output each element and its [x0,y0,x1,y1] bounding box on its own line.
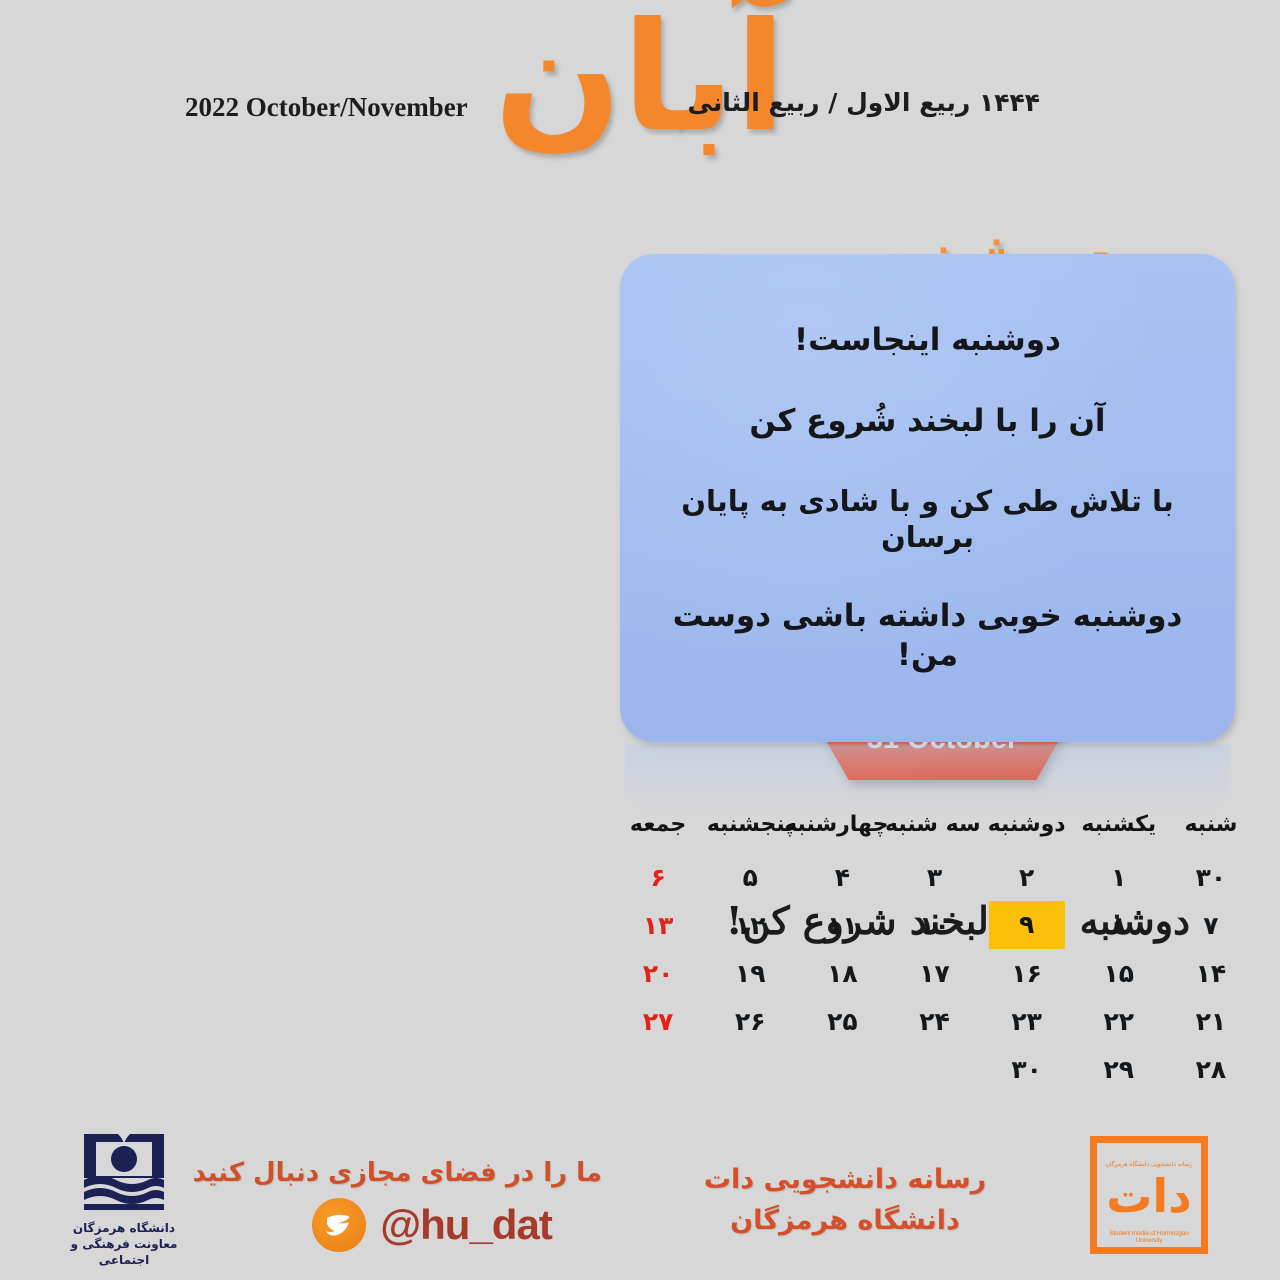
weekday-header-tuesday: سه شنبه [888,808,980,853]
quote-card: دوشنبه اینجاست! آن را با لبخند شُروع کن … [620,254,1235,742]
calendar-day-number: ۷ [1165,911,1257,940]
calendar-day-number: ۱۰ [888,911,980,940]
calendar-day-cell[interactable]: ۳۰ [981,1045,1073,1093]
calendar-day-cell[interactable]: ۱۷ [888,949,980,997]
calendar-day-cell[interactable]: ۲۸ [1165,1045,1257,1093]
calendar-day-number: ۲۶ [704,1007,796,1036]
weekday-header-wednesday: چهارشنبه [796,808,888,853]
calendar-day-number: ۱۱ [796,911,888,940]
calendar-day-cell[interactable]: ۱۱ [796,901,888,949]
gregorian-range-label: 2022 October/November [185,92,468,123]
calendar-day-number: ۲۴ [888,1007,980,1036]
calendar-day-cell[interactable]: ۱ [1073,853,1165,901]
calendar-day-cell [888,1045,980,1093]
calendar-day-number: ۲۱ [1165,1007,1257,1036]
eitaa-icon[interactable] [312,1198,366,1252]
social-follow-block: ما را در فضای مجازی دنبال کنید @hu_dat [262,1158,602,1252]
social-handle-row[interactable]: @hu_dat [262,1198,602,1252]
social-handle-text[interactable]: @hu_dat [380,1201,552,1249]
calendar-day-number: ۲۹ [1073,1055,1165,1084]
calendar-day-number: ۱۶ [981,959,1073,988]
follow-us-text: ما را در فضای مجازی دنبال کنید [262,1158,602,1188]
weekday-header-thursday: پنجشنبه [704,808,796,853]
calendar-day-number: ۲۵ [796,1007,888,1036]
dat-logo-bottom-caption: Student media of Hormozgan University [1097,1230,1201,1244]
calendar-day-cell[interactable]: ۴ [796,853,888,901]
calendar-day-cell-today[interactable]: ۹ [981,901,1073,949]
calendar-week-row: ۱۴۱۵۱۶۱۷۱۸۱۹۲۰ [612,949,1257,997]
university-caption-line-1: دانشگاه هرمزگان [48,1220,200,1236]
hijri-range-label: ۱۴۴۴ ربیع الاول / ربیع الثانی [688,88,1040,117]
calendar-day-number: ۲۲ [1073,1007,1165,1036]
media-name-line-2: دانشگاه هرمزگان [680,1201,1010,1242]
calendar-day-number: ۳۰ [981,1055,1073,1084]
weekday-header-sunday: یکشنبه [1073,808,1165,853]
month-title: آبان [0,0,1280,165]
dat-logo-glyph: دات [1097,1173,1201,1219]
calendar-day-number: ۱۳ [612,911,704,940]
calendar-day-cell[interactable]: ۳ [888,853,980,901]
quote-card-reflection [625,744,1230,814]
calendar-poster: آبان 2022 October/November ۱۴۴۴ ربیع الا… [0,0,1280,1280]
dat-logo-block: رسانه دانشجویی دانشگاه هرمزگان دات Stude… [1084,1136,1208,1260]
quote-line-3: با تلاش طی کن و با شادی به پایان برسان [658,483,1197,556]
calendar-day-cell[interactable]: ۵ [704,853,796,901]
calendar-day-cell[interactable]: ۲۵ [796,997,888,1045]
university-logo-block: دانشگاه هرمزگان معاونت فرهنگی و اجتماعی [48,1128,200,1269]
calendar-day-cell[interactable]: ۲ [981,853,1073,901]
calendar-day-number: ۵ [704,863,796,892]
calendar-day-cell[interactable]: ۱۲ [704,901,796,949]
calendar-day-number: ۲۰ [612,959,704,988]
calendar-day-cell[interactable]: ۱۹ [704,949,796,997]
month-calendar: شنبه یکشنبه دوشنبه سه شنبه چهارشنبه پنجش… [612,808,1257,1093]
calendar-day-number: ۱۵ [1073,959,1165,988]
calendar-day-cell[interactable]: ۱۵ [1073,949,1165,997]
calendar-day-cell[interactable]: ۲۱ [1165,997,1257,1045]
calendar-day-cell[interactable]: ۲۰ [612,949,704,997]
calendar-week-row: ۳۰۱۲۳۴۵۶ [612,853,1257,901]
calendar-day-number: ۴ [796,863,888,892]
calendar-day-cell[interactable]: ۱۰ [888,901,980,949]
calendar-day-number: ۲ [981,863,1073,892]
calendar-day-cell[interactable]: ۲۳ [981,997,1073,1045]
calendar-day-number: ۱۲ [704,911,796,940]
calendar-day-number: ۲۳ [981,1007,1073,1036]
weekday-header-friday: جمعه [612,808,704,853]
calendar-body: ۳۰۱۲۳۴۵۶۷۸۹۱۰۱۱۱۲۱۳۱۴۱۵۱۶۱۷۱۸۱۹۲۰۲۱۲۲۲۳۲… [612,853,1257,1093]
university-caption-line-2: معاونت فرهنگی و اجتماعی [48,1236,200,1268]
calendar-day-number: ۱۸ [796,959,888,988]
dat-student-media-logo-icon: رسانه دانشجویی دانشگاه هرمزگان دات Stude… [1090,1136,1208,1254]
weekday-header-monday: دوشنبه [981,808,1073,853]
weekday-header-saturday: شنبه [1165,808,1257,853]
calendar-day-cell[interactable]: ۱۴ [1165,949,1257,997]
calendar-day-number: ۱۷ [888,959,980,988]
calendar-day-cell[interactable]: ۶ [612,853,704,901]
poster-header: آبان 2022 October/November ۱۴۴۴ ربیع الا… [0,0,1280,205]
calendar-day-cell[interactable]: ۱۸ [796,949,888,997]
calendar-day-cell[interactable]: ۲۷ [612,997,704,1045]
calendar-week-row: ۲۱۲۲۲۳۲۴۲۵۲۶۲۷ [612,997,1257,1045]
calendar-day-number: ۶ [612,863,704,892]
calendar-day-cell[interactable]: ۱۶ [981,949,1073,997]
quote-line-2: آن را با لبخند شُروع کن [658,402,1197,441]
calendar-day-number: ۱۹ [704,959,796,988]
calendar-day-number: ۱ [1073,863,1165,892]
calendar-day-cell [704,1045,796,1093]
calendar-day-number: ۹ [989,901,1065,949]
calendar-day-cell[interactable]: ۱۳ [612,901,704,949]
calendar-day-number: ۱۴ [1165,959,1257,988]
calendar-day-cell [796,1045,888,1093]
calendar-day-number: ۳۰ [1165,863,1257,892]
media-name-line-1: رسانه دانشجویی دات [680,1160,1010,1201]
calendar-day-number: ۳ [888,863,980,892]
calendar-day-cell[interactable]: ۲۶ [704,997,796,1045]
calendar-header-row: شنبه یکشنبه دوشنبه سه شنبه چهارشنبه پنجش… [612,808,1257,853]
calendar-day-number: ۸ [1073,911,1165,940]
poster-footer: دانشگاه هرمزگان معاونت فرهنگی و اجتماعی … [0,1120,1280,1280]
calendar-day-cell[interactable]: ۲۴ [888,997,980,1045]
calendar-day-cell[interactable]: ۲۲ [1073,997,1165,1045]
calendar-day-cell[interactable]: ۷ [1165,901,1257,949]
calendar-day-number: ۲۸ [1165,1055,1257,1084]
calendar-week-row: ۷۸۹۱۰۱۱۱۲۱۳ [612,901,1257,949]
calendar-day-cell[interactable]: ۲۹ [1073,1045,1165,1093]
calendar-day-number: ۲۷ [612,1007,704,1036]
media-name-block: رسانه دانشجویی دات دانشگاه هرمزگان [680,1160,1010,1241]
calendar-day-cell[interactable]: ۸ [1073,901,1165,949]
calendar-day-cell[interactable]: ۳۰ [1165,853,1257,901]
calendar-week-row: ۲۸۲۹۳۰ [612,1045,1257,1093]
calendar-day-cell [612,1045,704,1093]
dat-logo-top-caption: رسانه دانشجویی دانشگاه هرمزگان [1097,1161,1201,1168]
hormozgan-university-logo-icon [76,1128,172,1216]
calendar-table: شنبه یکشنبه دوشنبه سه شنبه چهارشنبه پنجش… [612,808,1257,1093]
quote-line-4: دوشنبه خوبی داشته باشی دوست من! [658,597,1197,675]
quote-line-1: دوشنبه اینجاست! [658,321,1197,360]
